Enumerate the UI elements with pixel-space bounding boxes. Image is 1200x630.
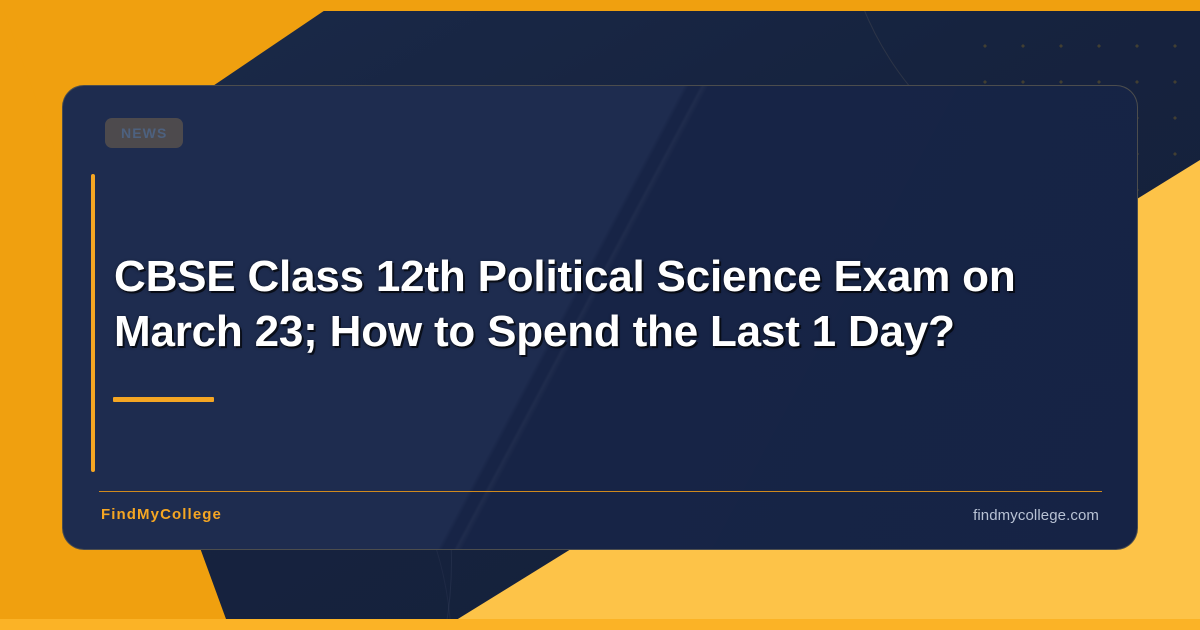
- card-content: NEWS CBSE Class 12th Political Science E…: [63, 86, 1137, 549]
- brand-name: FindMyCollege: [101, 506, 222, 523]
- news-badge: NEWS: [105, 118, 183, 148]
- orange-strip-top: [0, 0, 1200, 11]
- headline-title: CBSE Class 12th Political Science Exam o…: [114, 249, 1074, 359]
- news-card: NEWS CBSE Class 12th Political Science E…: [62, 85, 1138, 550]
- footer-divider: [99, 491, 1102, 492]
- website-url: findmycollege.com: [973, 507, 1099, 524]
- orange-strip-bottom: [0, 619, 1200, 630]
- headline-underline: [113, 397, 214, 402]
- accent-rail: [91, 174, 95, 472]
- share-card-canvas: NEWS CBSE Class 12th Political Science E…: [0, 0, 1200, 630]
